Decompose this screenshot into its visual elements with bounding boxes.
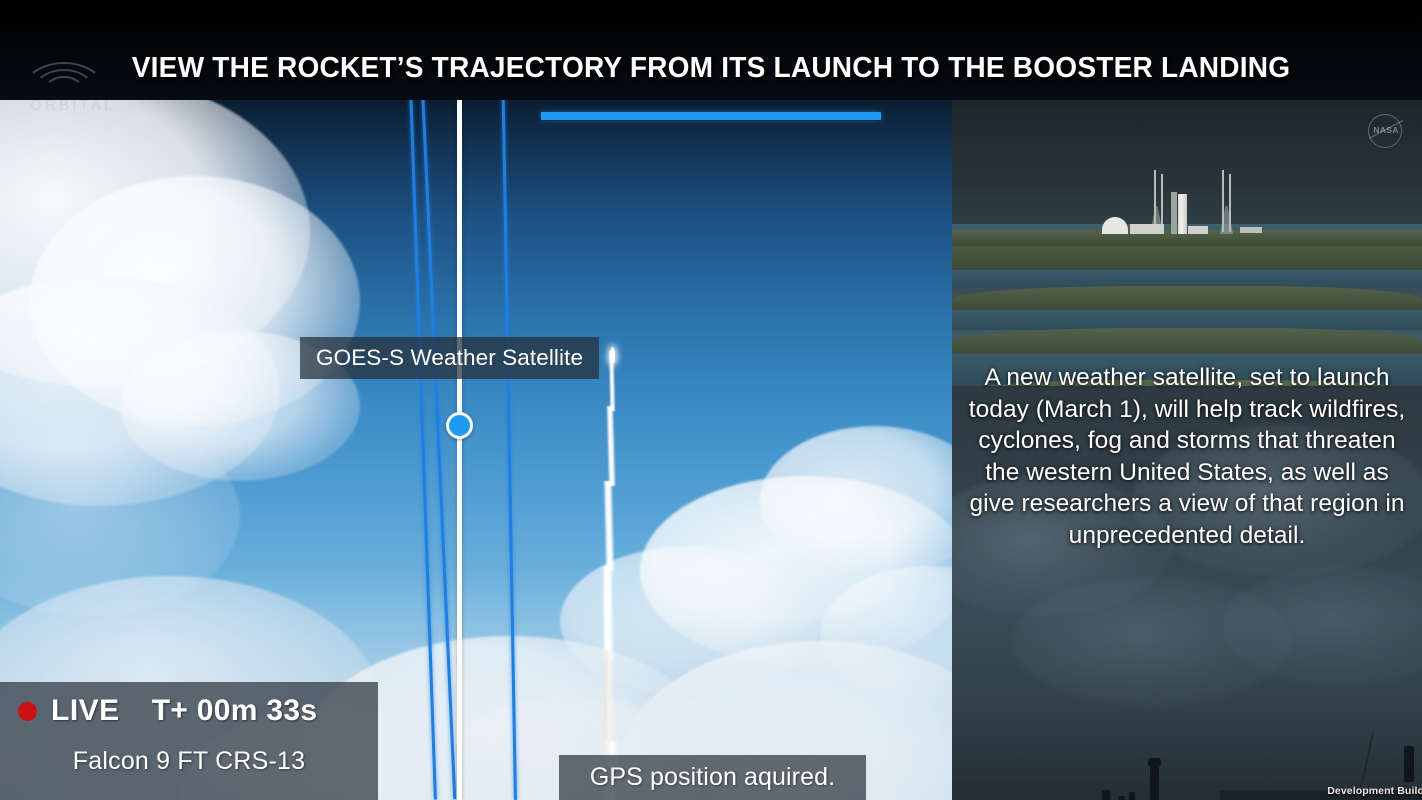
pad-building — [1130, 224, 1164, 234]
service-gantry — [1171, 192, 1177, 234]
pad-building — [1188, 226, 1208, 234]
live-status-label: LIVE — [51, 694, 120, 728]
development-build-watermark: Development Build — [1327, 785, 1422, 797]
antenna-pole — [1360, 732, 1373, 787]
marsh-vegetation — [952, 286, 1422, 312]
spectator-silhouette — [1150, 766, 1159, 800]
mission-description-text: A new weather satellite, set to launch t… — [952, 362, 1422, 551]
spectator-silhouette — [1148, 758, 1161, 767]
current-position-line — [457, 96, 462, 800]
nasa-watermark-text: NASA — [1369, 125, 1403, 135]
mission-elapsed-timer: T+ 00m 33s — [152, 694, 318, 728]
lightning-tower — [1154, 170, 1156, 232]
status-message-banner: GPS position aquired. — [559, 755, 866, 800]
marsh-water — [952, 310, 1422, 330]
rocket-on-pad — [1178, 194, 1187, 234]
spectator-silhouette — [1129, 792, 1135, 800]
land-strip — [952, 246, 1422, 270]
lightning-tower — [1229, 174, 1231, 232]
title-accent-underline — [541, 112, 881, 120]
launch-pad-scene: NASA — [952, 96, 1422, 386]
plume-segment — [602, 566, 615, 661]
spectator-silhouette — [1118, 796, 1125, 800]
status-message-text: GPS position aquired. — [590, 763, 835, 792]
live-telemetry-overlay: LIVE T+ 00m 33s Falcon 9 FT CRS-13 — [0, 682, 378, 800]
vehicle-name-label: Falcon 9 FT CRS-13 — [0, 747, 378, 776]
launch-broadcast-viewport: GOES-S Weather Satellite LIVE T+ 00m 33s… — [0, 0, 1422, 800]
position-marker-dot[interactable] — [446, 412, 473, 439]
header-bar: VIEW THE ROCKET’S TRAJECTORY FROM ITS LA… — [0, 0, 1422, 100]
live-indicator-icon — [18, 702, 37, 721]
pad-building — [1240, 227, 1262, 233]
plume-segment — [603, 481, 615, 571]
spectator-silhouette — [1404, 746, 1414, 782]
plume-segment — [608, 351, 615, 411]
spectator-silhouette — [1102, 790, 1110, 800]
land-strip — [952, 230, 1422, 246]
plume-segment — [601, 651, 616, 751]
nasa-logo-icon: NASA — [1368, 114, 1402, 148]
page-title: VIEW THE ROCKET’S TRAJECTORY FROM ITS LA… — [11, 52, 1412, 85]
lightning-tower — [1222, 170, 1224, 232]
payload-callout-text: GOES-S Weather Satellite — [316, 345, 583, 371]
live-status-row: LIVE T+ 00m 33s — [18, 694, 317, 728]
rocket-exhaust-plume — [600, 351, 626, 800]
payload-callout-label[interactable]: GOES-S Weather Satellite — [300, 337, 599, 379]
marsh-vegetation — [952, 328, 1422, 356]
plume-segment — [606, 406, 616, 486]
